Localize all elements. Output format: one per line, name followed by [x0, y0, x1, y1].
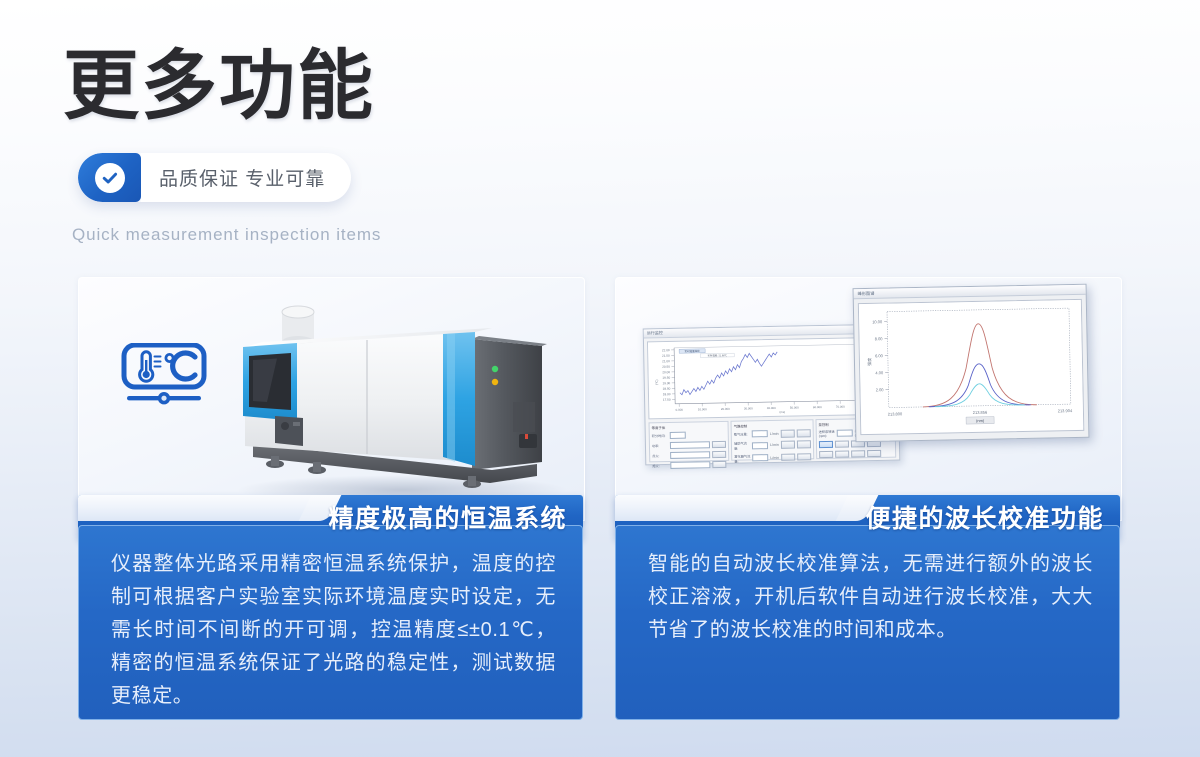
- panel-row: [819, 449, 893, 458]
- svg-text:4.00: 4.00: [875, 370, 884, 375]
- panel-row: 点火:: [652, 450, 726, 459]
- svg-text:实时温度: 21.98℃: 实时温度: 21.98℃: [708, 353, 728, 357]
- nebulizer-gas-input[interactable]: [752, 454, 768, 461]
- card-2-title: 便捷的波长校准功能: [865, 499, 1104, 535]
- svg-text:60.000: 60.000: [813, 405, 822, 409]
- field-label: 辅助气流量:: [734, 440, 750, 450]
- power-set-button[interactable]: [712, 440, 726, 448]
- svg-text:8.00: 8.00: [875, 336, 884, 341]
- exit-button[interactable]: [867, 449, 881, 457]
- field-label: 积分时间:: [652, 433, 668, 438]
- svg-text:21.50: 21.50: [662, 354, 670, 358]
- software-window-peak-profile: 峰形图谱: [853, 284, 1090, 442]
- integration-time-input[interactable]: [670, 432, 686, 439]
- check-circle-icon: [95, 163, 125, 193]
- page-title: 更多功能: [63, 43, 375, 129]
- header-sheen-shape: [78, 495, 322, 521]
- subtitle-english: Quick measurement inspection items: [72, 225, 381, 245]
- svg-text:10.000: 10.000: [698, 407, 707, 411]
- card-2-image-area: 运行监控: [615, 277, 1122, 521]
- nebulizer-up-button[interactable]: [781, 453, 795, 461]
- nebulizer-down-button[interactable]: [797, 453, 811, 461]
- card-2-description: 智能的自动波长校准算法，无需进行额外的波长校正溶液，开机后软件自动进行波长校准，…: [648, 548, 1093, 647]
- card-2-body: 智能的自动波长校准算法，无需进行额外的波长校正溶液，开机后软件自动进行波长校准，…: [615, 525, 1120, 720]
- svg-text:2.00: 2.00: [876, 387, 885, 392]
- pump-reverse-button[interactable]: [835, 440, 849, 448]
- unit-label: L/min: [770, 443, 779, 447]
- sample-button[interactable]: [819, 450, 833, 458]
- ignite-set-button[interactable]: [712, 450, 726, 458]
- ignite-input[interactable]: [670, 451, 710, 459]
- feature-card-wavelength-calibration: 运行监控: [615, 277, 1120, 720]
- field-label: 点火:: [652, 453, 668, 458]
- spare-button[interactable]: [851, 450, 865, 458]
- svg-text:(nm): (nm): [976, 418, 985, 423]
- field-label: 进样泵转速(rpm):: [819, 429, 835, 438]
- gas-panel-title: 气路控制: [734, 422, 811, 428]
- svg-text:213.800: 213.800: [888, 411, 903, 416]
- field-label: 载气流量:: [734, 432, 750, 437]
- panel-row: 辅助气流量:L/min: [734, 439, 811, 450]
- poster-stage: 更多功能 品质保证 专业可靠 Quick measurement inspect…: [0, 0, 1200, 757]
- field-label: 雾化器气流量:: [734, 453, 750, 463]
- svg-text:18.00: 18.00: [663, 392, 671, 396]
- header-sheen-shape: [615, 495, 859, 521]
- carrier-gas-down-button[interactable]: [797, 429, 811, 437]
- svg-text:22.00: 22.00: [662, 348, 670, 352]
- sample-pump-speed-input[interactable]: [837, 429, 853, 436]
- badge-label: 品质保证 专业可靠: [141, 153, 351, 202]
- quality-badge: 品质保证 专业可靠: [78, 153, 351, 202]
- svg-text:20.000: 20.000: [721, 407, 730, 411]
- field-label: 功率:: [652, 443, 668, 448]
- svg-text:0.000: 0.000: [676, 408, 684, 412]
- extinguish-input[interactable]: [670, 461, 710, 469]
- svg-text:6.00: 6.00: [875, 353, 884, 358]
- gas-control-panel: 气路控制 载气流量:L/min 辅助气流量:L/min 雾化器气流量:L/min: [731, 419, 815, 461]
- svg-text:21.00: 21.00: [662, 359, 670, 363]
- svg-text:50.000: 50.000: [790, 405, 799, 409]
- power-input[interactable]: [670, 441, 710, 449]
- svg-text:19.50: 19.50: [662, 376, 670, 380]
- svg-text:20.50: 20.50: [662, 365, 670, 369]
- carrier-gas-input[interactable]: [752, 430, 768, 437]
- spectrometer-instrument-image: [207, 294, 585, 509]
- aux-gas-up-button[interactable]: [781, 441, 795, 449]
- panel-row: 熄火:: [652, 460, 726, 469]
- svg-text:19.00: 19.00: [662, 381, 670, 385]
- field-label: 熄火:: [652, 463, 668, 468]
- svg-text:30.000: 30.000: [744, 406, 753, 410]
- extinguish-set-button[interactable]: [712, 460, 726, 468]
- svg-text:(℃): (℃): [655, 379, 659, 384]
- thermometer-celsius-icon: [121, 343, 207, 407]
- svg-text:40.000: 40.000: [767, 406, 776, 410]
- panel-row: 积分时间:: [652, 431, 726, 439]
- card-1-body: 仪器整体光路采用精密恒温系统保护，温度的控制可根据客户实验室实际环境温度实时设定…: [78, 525, 583, 720]
- svg-text:213.856: 213.856: [973, 410, 988, 415]
- aux-gas-down-button[interactable]: [797, 441, 811, 449]
- svg-text:强度: 强度: [866, 358, 872, 366]
- wash-button[interactable]: [835, 450, 849, 458]
- svg-text:18.50: 18.50: [663, 387, 671, 391]
- badge-icon-holder: [78, 153, 141, 202]
- svg-text:213.904: 213.904: [1058, 408, 1073, 413]
- svg-text:17.50: 17.50: [663, 398, 671, 402]
- card-1-description: 仪器整体光路采用精密恒温系统保护，温度的控制可根据客户实验室实际环境温度实时设定…: [111, 548, 556, 713]
- svg-text:20.00: 20.00: [662, 370, 670, 374]
- panel-row: 载气流量:L/min: [734, 429, 811, 438]
- svg-text:实时温度曲线: 实时温度曲线: [685, 349, 701, 353]
- wavelength-peak-chart: 10.00 8.00 6.00 4.00 2.00 强度 213.800 213…: [858, 299, 1084, 435]
- unit-label: L/min: [770, 455, 779, 459]
- peak-window-titlebar: 峰形图谱: [854, 285, 1086, 299]
- panel-row: 功率:: [652, 440, 726, 449]
- carrier-gas-up-button[interactable]: [781, 430, 795, 438]
- svg-text:10.00: 10.00: [872, 319, 883, 324]
- plasma-control-panel: 等离子体 积分时间: 功率: 点火: 熄火:: [649, 421, 730, 463]
- aux-gas-input[interactable]: [752, 442, 768, 449]
- card-1-image-area: [78, 277, 585, 521]
- panel-row: 雾化器气流量:L/min: [734, 452, 811, 463]
- card-1-title: 精度极高的恒温系统: [328, 499, 567, 535]
- unit-label: L/min: [770, 432, 779, 436]
- svg-text:(ms): (ms): [780, 410, 786, 414]
- svg-text:70.000: 70.000: [836, 405, 845, 409]
- feature-card-constant-temperature: 精度极高的恒温系统 仪器整体光路采用精密恒温系统保护，温度的控制可根据客户实验室…: [78, 277, 583, 720]
- pump-forward-button[interactable]: [819, 440, 833, 448]
- plasma-panel-title: 等离子体: [652, 424, 726, 430]
